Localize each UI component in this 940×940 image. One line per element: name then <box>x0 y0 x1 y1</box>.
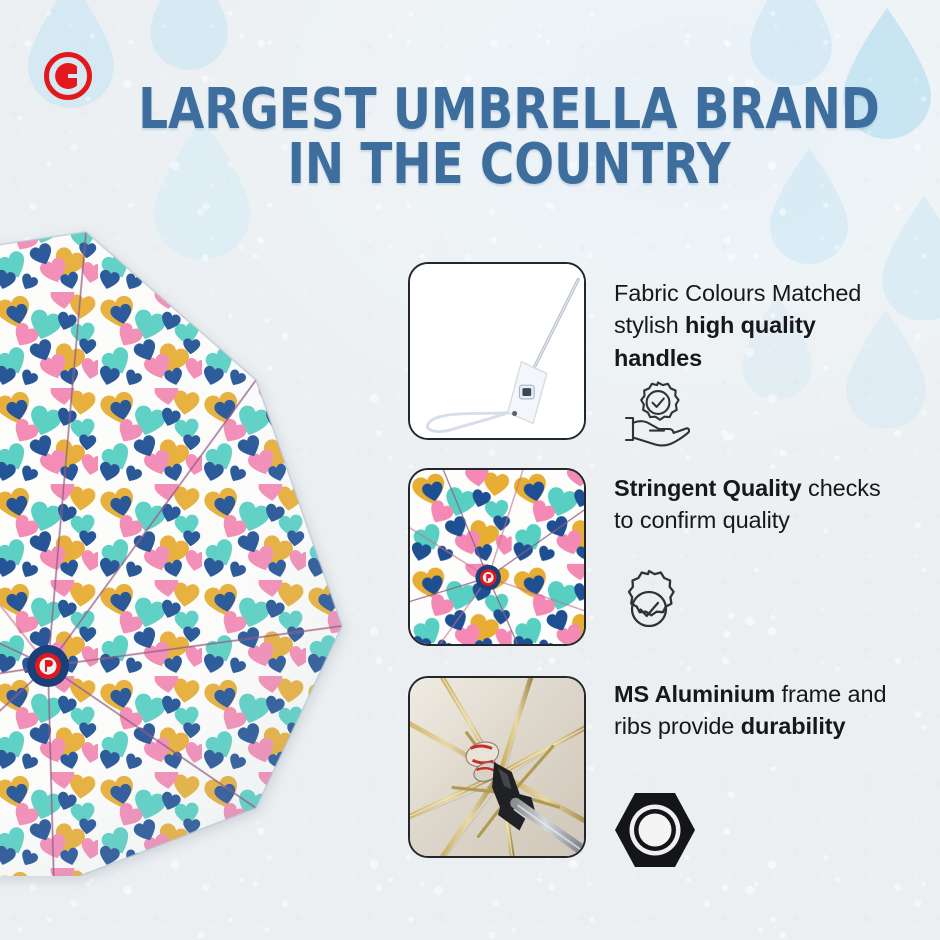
feature-text-segment-bold: Stringent Quality <box>614 475 802 501</box>
umbrella-frame-ribs-photo[interactable] <box>408 676 586 858</box>
feature-text-quality: Stringent Quality checks to confirm qual… <box>614 472 906 537</box>
hand-holding-quality-badge-icon <box>612 376 690 448</box>
feature-text-segment-bold-2: durability <box>741 713 846 739</box>
hero-umbrella-image <box>0 196 346 876</box>
umbrella-center-cap-icon <box>27 645 69 687</box>
droplet-icon <box>750 0 832 86</box>
feature-text-handles: Fabric Colours Matched stylish high qual… <box>614 277 906 374</box>
page-title: LARGEST UMBRELLA BRAND IN THE COUNTRY <box>125 82 893 193</box>
c-circle-logo-icon[interactable] <box>44 52 92 100</box>
headline-line-1: LARGEST UMBRELLA BRAND <box>125 82 893 137</box>
feature-text-frame: MS Aluminium frame and ribs provide dura… <box>614 678 914 743</box>
umbrella-canopy-closeup-photo[interactable] <box>408 468 586 646</box>
droplet-icon <box>150 0 228 70</box>
poster-canvas: LARGEST UMBRELLA BRAND IN THE COUNTRY <box>0 0 940 940</box>
feature-text-segment-bold: MS Aluminium <box>614 681 775 707</box>
quality-seal-check-icon <box>608 568 690 650</box>
umbrella-handle-photo[interactable] <box>408 262 586 440</box>
headline-line-2: IN THE COUNTRY <box>125 137 893 192</box>
hex-nut-icon <box>612 790 698 870</box>
